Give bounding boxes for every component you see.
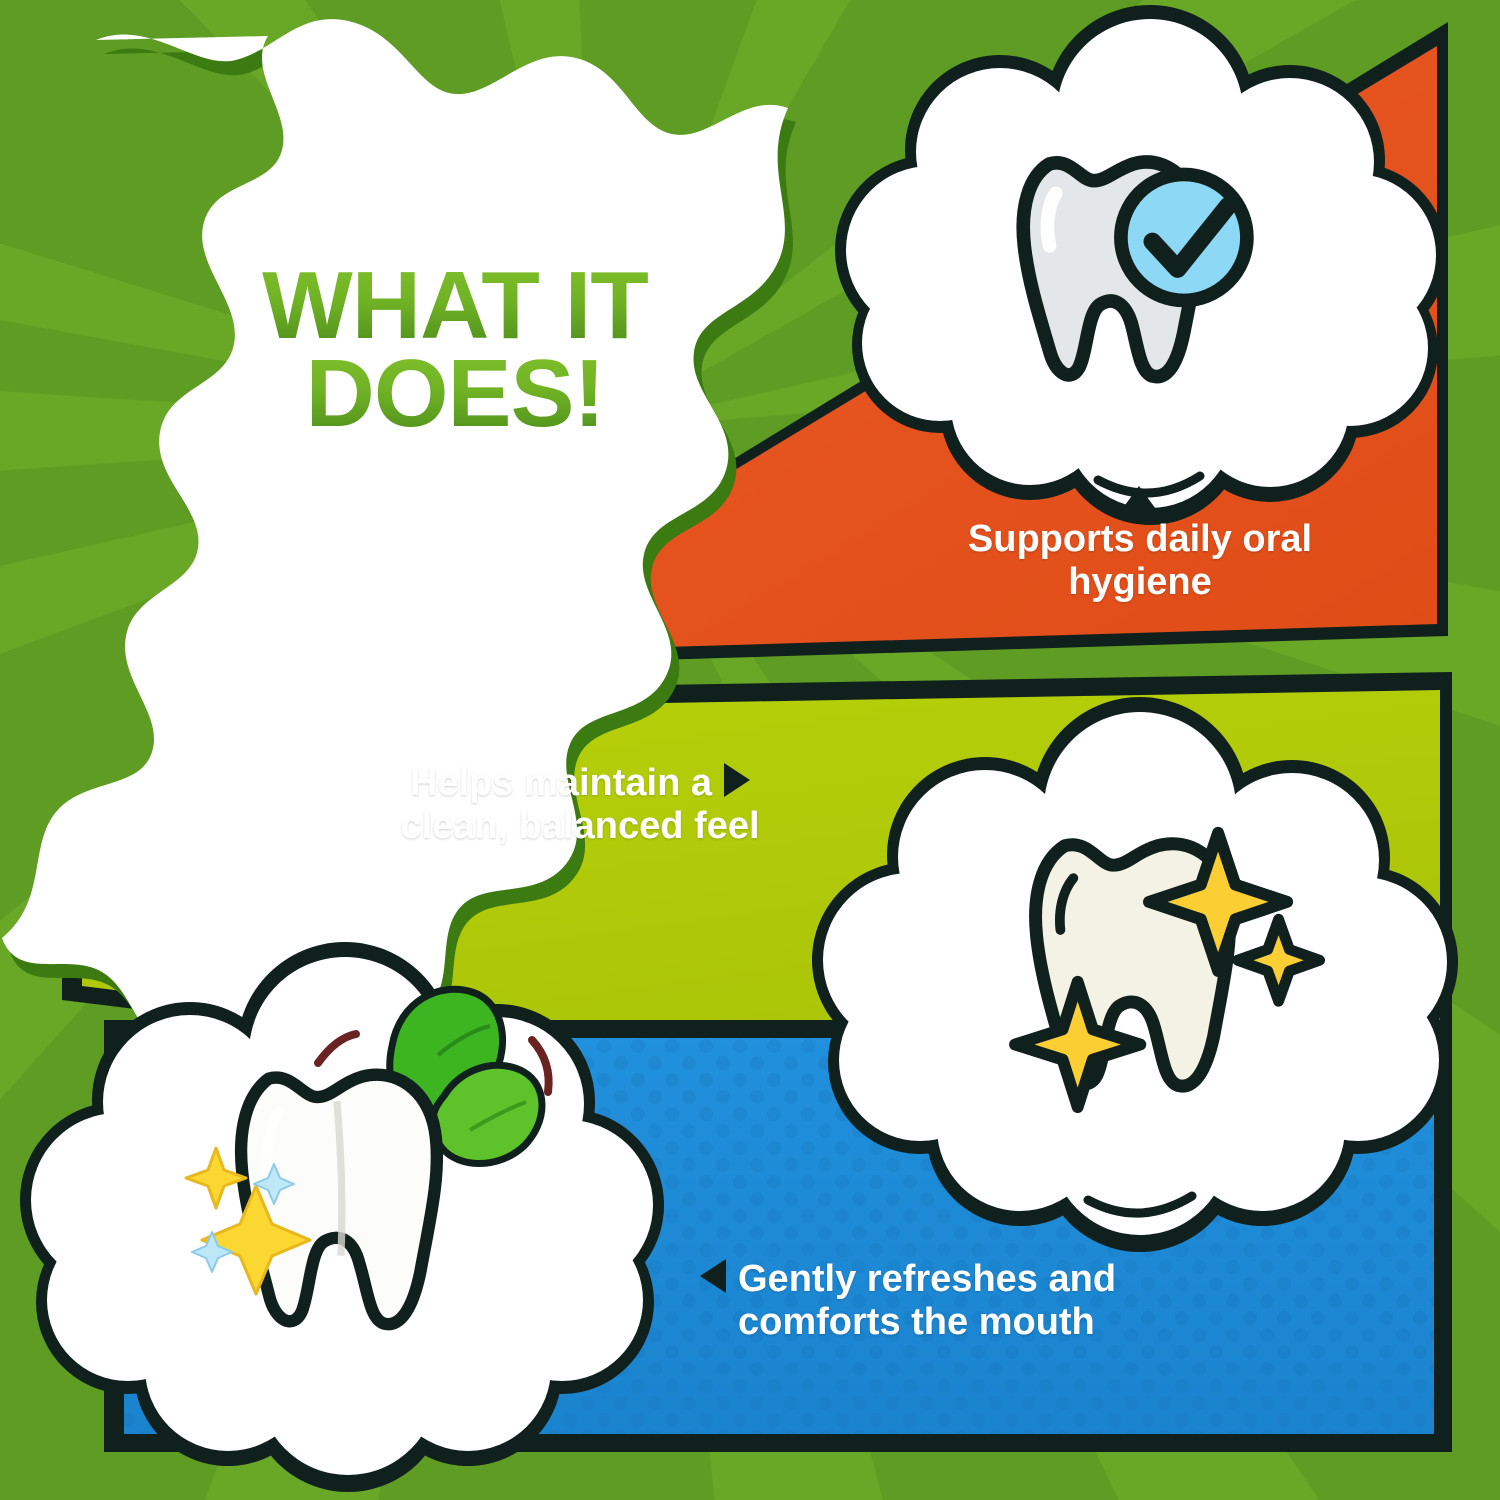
pointer-triangle-left: [700, 1259, 726, 1293]
caption-supports-daily-oral-hygiene: Supports daily oral hygiene: [880, 518, 1400, 603]
caption-green-line-2: clean, balanced feel: [300, 805, 860, 848]
caption-blue-line-1: Gently refreshes and: [738, 1258, 1116, 1300]
pointer-triangle-up: [1117, 486, 1161, 516]
caption-blue-line-2: comforts the mouth: [738, 1301, 1240, 1344]
caption-gently-refreshes-comforts-mouth: Gently refreshes and comforts the mouth: [700, 1258, 1240, 1343]
pointer-triangle-right: [724, 763, 750, 797]
caption-helps-maintain-clean-balanced-feel: Helps maintain a clean, balanced feel: [300, 762, 860, 847]
caption-orange-line-1: Supports daily oral: [880, 518, 1400, 561]
caption-orange-line-2: hygiene: [880, 561, 1400, 604]
poster-canvas: WHAT IT DOES!: [0, 0, 1500, 1500]
caption-blue-line-1-wrap: Gently refreshes and: [700, 1258, 1240, 1301]
caption-green-line-1-wrap: Helps maintain a: [300, 762, 860, 805]
caption-green-line-1: Helps maintain a: [410, 762, 712, 804]
